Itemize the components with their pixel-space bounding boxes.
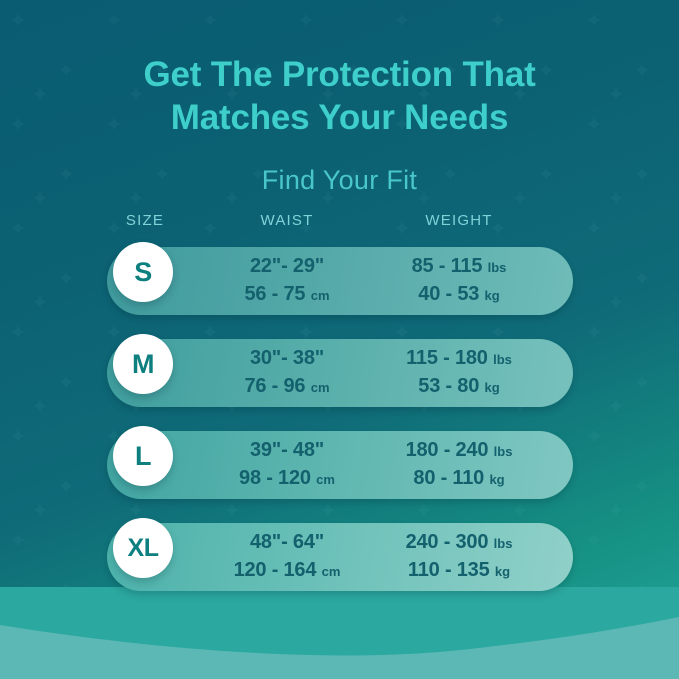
weight-kg-unit: kg	[495, 564, 510, 579]
waist-cm-value: 76 - 96	[244, 375, 305, 397]
heading-block: Get The Protection That Matches Your Nee…	[0, 54, 679, 196]
weight-cell: 115 - 180 lbs 53 - 80 kg	[406, 344, 512, 401]
waist-cm-value: 56 - 75	[244, 283, 305, 305]
weight-lbs: 180 - 240 lbs	[406, 436, 513, 464]
waist-cm-unit: cm	[311, 380, 330, 395]
page-title: Get The Protection That Matches Your Nee…	[0, 54, 679, 139]
page-title-line-1: Get The Protection That	[0, 54, 679, 97]
waist-cm: 98 - 120 cm	[239, 464, 335, 492]
waist-cell: 22"- 29" 56 - 75 cm	[244, 252, 329, 309]
waist-cm-value: 98 - 120	[239, 467, 311, 489]
size-badge: XL	[113, 518, 173, 578]
weight-lbs-value: 85 - 115	[412, 255, 483, 277]
table-row: S 22"- 29" 56 - 75 cm 85 - 115 lbs 40 - …	[0, 242, 679, 334]
table-row: L 39"- 48" 98 - 120 cm 180 - 240 lbs 80 …	[0, 426, 679, 518]
table-column-headers: SIZE WAIST WEIGHT	[0, 212, 679, 242]
waist-cell: 39"- 48" 98 - 120 cm	[239, 436, 335, 493]
weight-lbs-unit: lbs	[488, 260, 507, 275]
page-subtitle: Find Your Fit	[0, 165, 679, 196]
weight-lbs-value: 240 - 300	[406, 531, 489, 553]
weight-lbs-value: 115 - 180	[406, 347, 488, 369]
weight-kg-value: 80 - 110	[413, 467, 484, 489]
weight-lbs: 240 - 300 lbs	[406, 528, 513, 556]
waist-cm-unit: cm	[322, 564, 341, 579]
weight-cell: 240 - 300 lbs 110 - 135 kg	[406, 528, 513, 585]
weight-kg-value: 110 - 135	[408, 559, 490, 581]
size-chart-infographic: Get The Protection That Matches Your Nee…	[0, 0, 679, 679]
waist-cm-value: 120 - 164	[234, 559, 317, 581]
waist-inches: 48"- 64"	[234, 528, 341, 556]
waist-inches: 22"- 29"	[244, 252, 329, 280]
weight-lbs: 85 - 115 lbs	[412, 252, 507, 280]
waist-cm: 56 - 75 cm	[244, 280, 329, 308]
table-row: M 30"- 38" 76 - 96 cm 115 - 180 lbs 53 -…	[0, 334, 679, 426]
weight-kg-value: 40 - 53	[418, 283, 479, 305]
weight-lbs: 115 - 180 lbs	[406, 344, 512, 372]
weight-lbs-unit: lbs	[494, 444, 513, 459]
weight-lbs-unit: lbs	[493, 352, 512, 367]
size-badge: L	[113, 426, 173, 486]
waist-cell: 30"- 38" 76 - 96 cm	[244, 344, 329, 401]
weight-kg-unit: kg	[485, 288, 500, 303]
weight-cell: 85 - 115 lbs 40 - 53 kg	[412, 252, 507, 309]
table-row: XL 48"- 64" 120 - 164 cm 240 - 300 lbs 1…	[0, 518, 679, 610]
weight-kg-value: 53 - 80	[418, 375, 479, 397]
page-title-line-2: Matches Your Needs	[0, 97, 679, 140]
size-badge-label: XL	[128, 534, 159, 563]
weight-kg-unit: kg	[489, 472, 504, 487]
waist-cm-unit: cm	[311, 288, 330, 303]
waist-cm: 120 - 164 cm	[234, 556, 341, 584]
waist-inches: 39"- 48"	[239, 436, 335, 464]
waist-cm: 76 - 96 cm	[244, 372, 329, 400]
size-badge: S	[113, 242, 173, 302]
size-badge-label: S	[134, 257, 152, 288]
weight-lbs-value: 180 - 240	[406, 439, 489, 461]
waist-cell: 48"- 64" 120 - 164 cm	[234, 528, 341, 585]
waist-cm-unit: cm	[316, 472, 335, 487]
weight-kg: 80 - 110 kg	[406, 464, 513, 492]
weight-kg: 53 - 80 kg	[406, 372, 512, 400]
weight-cell: 180 - 240 lbs 80 - 110 kg	[406, 436, 513, 493]
size-badge: M	[113, 334, 173, 394]
weight-lbs-unit: lbs	[494, 536, 513, 551]
weight-kg-unit: kg	[485, 380, 500, 395]
column-header-weight: WEIGHT	[425, 212, 492, 229]
size-table: SIZE WAIST WEIGHT S 22"- 29" 56 - 75 cm …	[0, 212, 679, 610]
weight-kg: 110 - 135 kg	[406, 556, 513, 584]
column-header-size: SIZE	[126, 212, 164, 229]
size-badge-label: L	[135, 441, 151, 472]
column-header-waist: WAIST	[261, 212, 314, 229]
waist-inches: 30"- 38"	[244, 344, 329, 372]
weight-kg: 40 - 53 kg	[412, 280, 507, 308]
size-badge-label: M	[132, 349, 154, 380]
